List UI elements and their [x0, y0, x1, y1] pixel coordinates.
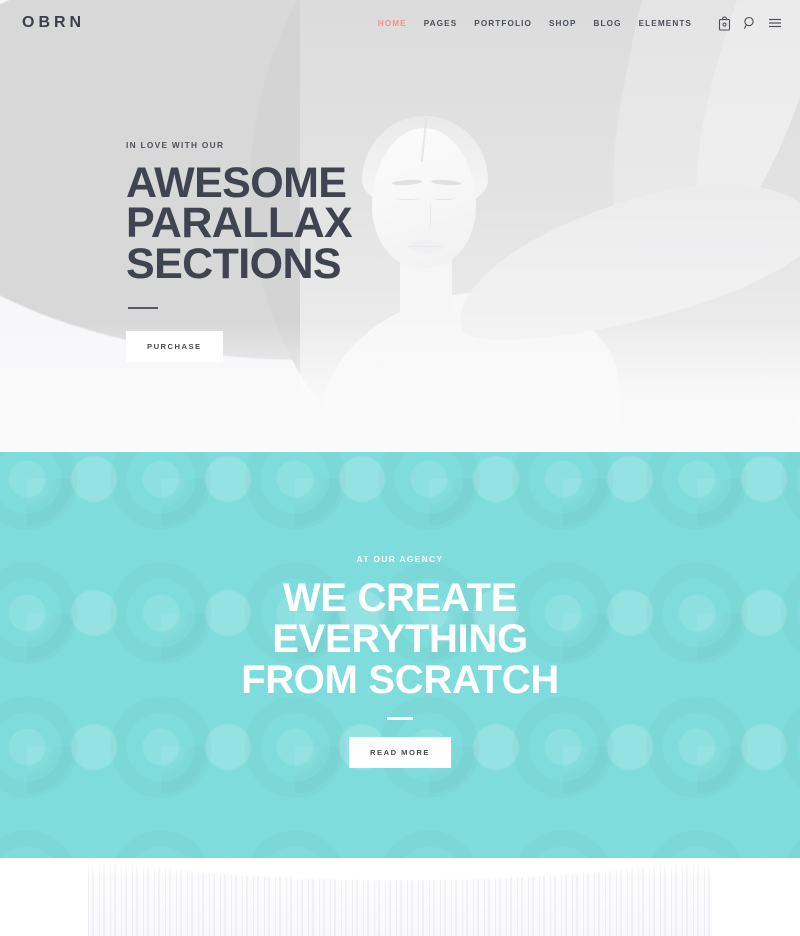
- purchase-button[interactable]: PURCHASE: [126, 331, 223, 362]
- main-navigation: HOME PAGES PORTFOLIO SHOP BLOG ELEMENTS: [378, 16, 782, 31]
- hero-subtitle: IN LOVE WITH OUR: [126, 140, 352, 150]
- nav-item-elements[interactable]: ELEMENTS: [639, 19, 692, 28]
- hero-content: IN LOVE WITH OUR AWESOME PARALLAX SECTIO…: [126, 140, 352, 362]
- hero-section: IN LOVE WITH OUR AWESOME PARALLAX SECTIO…: [0, 0, 800, 452]
- third-section-top-fade: [0, 858, 800, 878]
- header-icon-group: [718, 16, 782, 31]
- agency-section: AT OUR AGENCY WE CREATE EVERYTHING FROM …: [0, 452, 800, 858]
- nav-item-portfolio[interactable]: PORTFOLIO: [474, 19, 532, 28]
- agency-content: AT OUR AGENCY WE CREATE EVERYTHING FROM …: [0, 554, 800, 768]
- read-more-button[interactable]: READ MORE: [349, 737, 451, 768]
- site-logo[interactable]: OBRN: [22, 15, 85, 31]
- hero-bottom-fade: [0, 322, 800, 452]
- agency-divider: [387, 717, 413, 720]
- search-icon[interactable]: [743, 16, 756, 30]
- shopping-bag-icon[interactable]: [718, 16, 731, 31]
- site-header: OBRN HOME PAGES PORTFOLIO SHOP BLOG ELEM…: [0, 0, 800, 46]
- hamburger-menu-icon[interactable]: [768, 17, 782, 29]
- agency-title: WE CREATE EVERYTHING FROM SCRATCH: [0, 578, 800, 700]
- third-section: [0, 858, 800, 936]
- hero-divider: [128, 307, 158, 309]
- page-root: IN LOVE WITH OUR AWESOME PARALLAX SECTIO…: [0, 0, 800, 936]
- agency-subtitle: AT OUR AGENCY: [0, 554, 800, 564]
- nav-item-shop[interactable]: SHOP: [549, 19, 577, 28]
- nav-item-blog[interactable]: BLOG: [594, 19, 622, 28]
- nav-item-home[interactable]: HOME: [378, 19, 407, 28]
- hero-title: AWESOME PARALLAX SECTIONS: [126, 163, 352, 284]
- nav-item-pages[interactable]: PAGES: [424, 19, 458, 28]
